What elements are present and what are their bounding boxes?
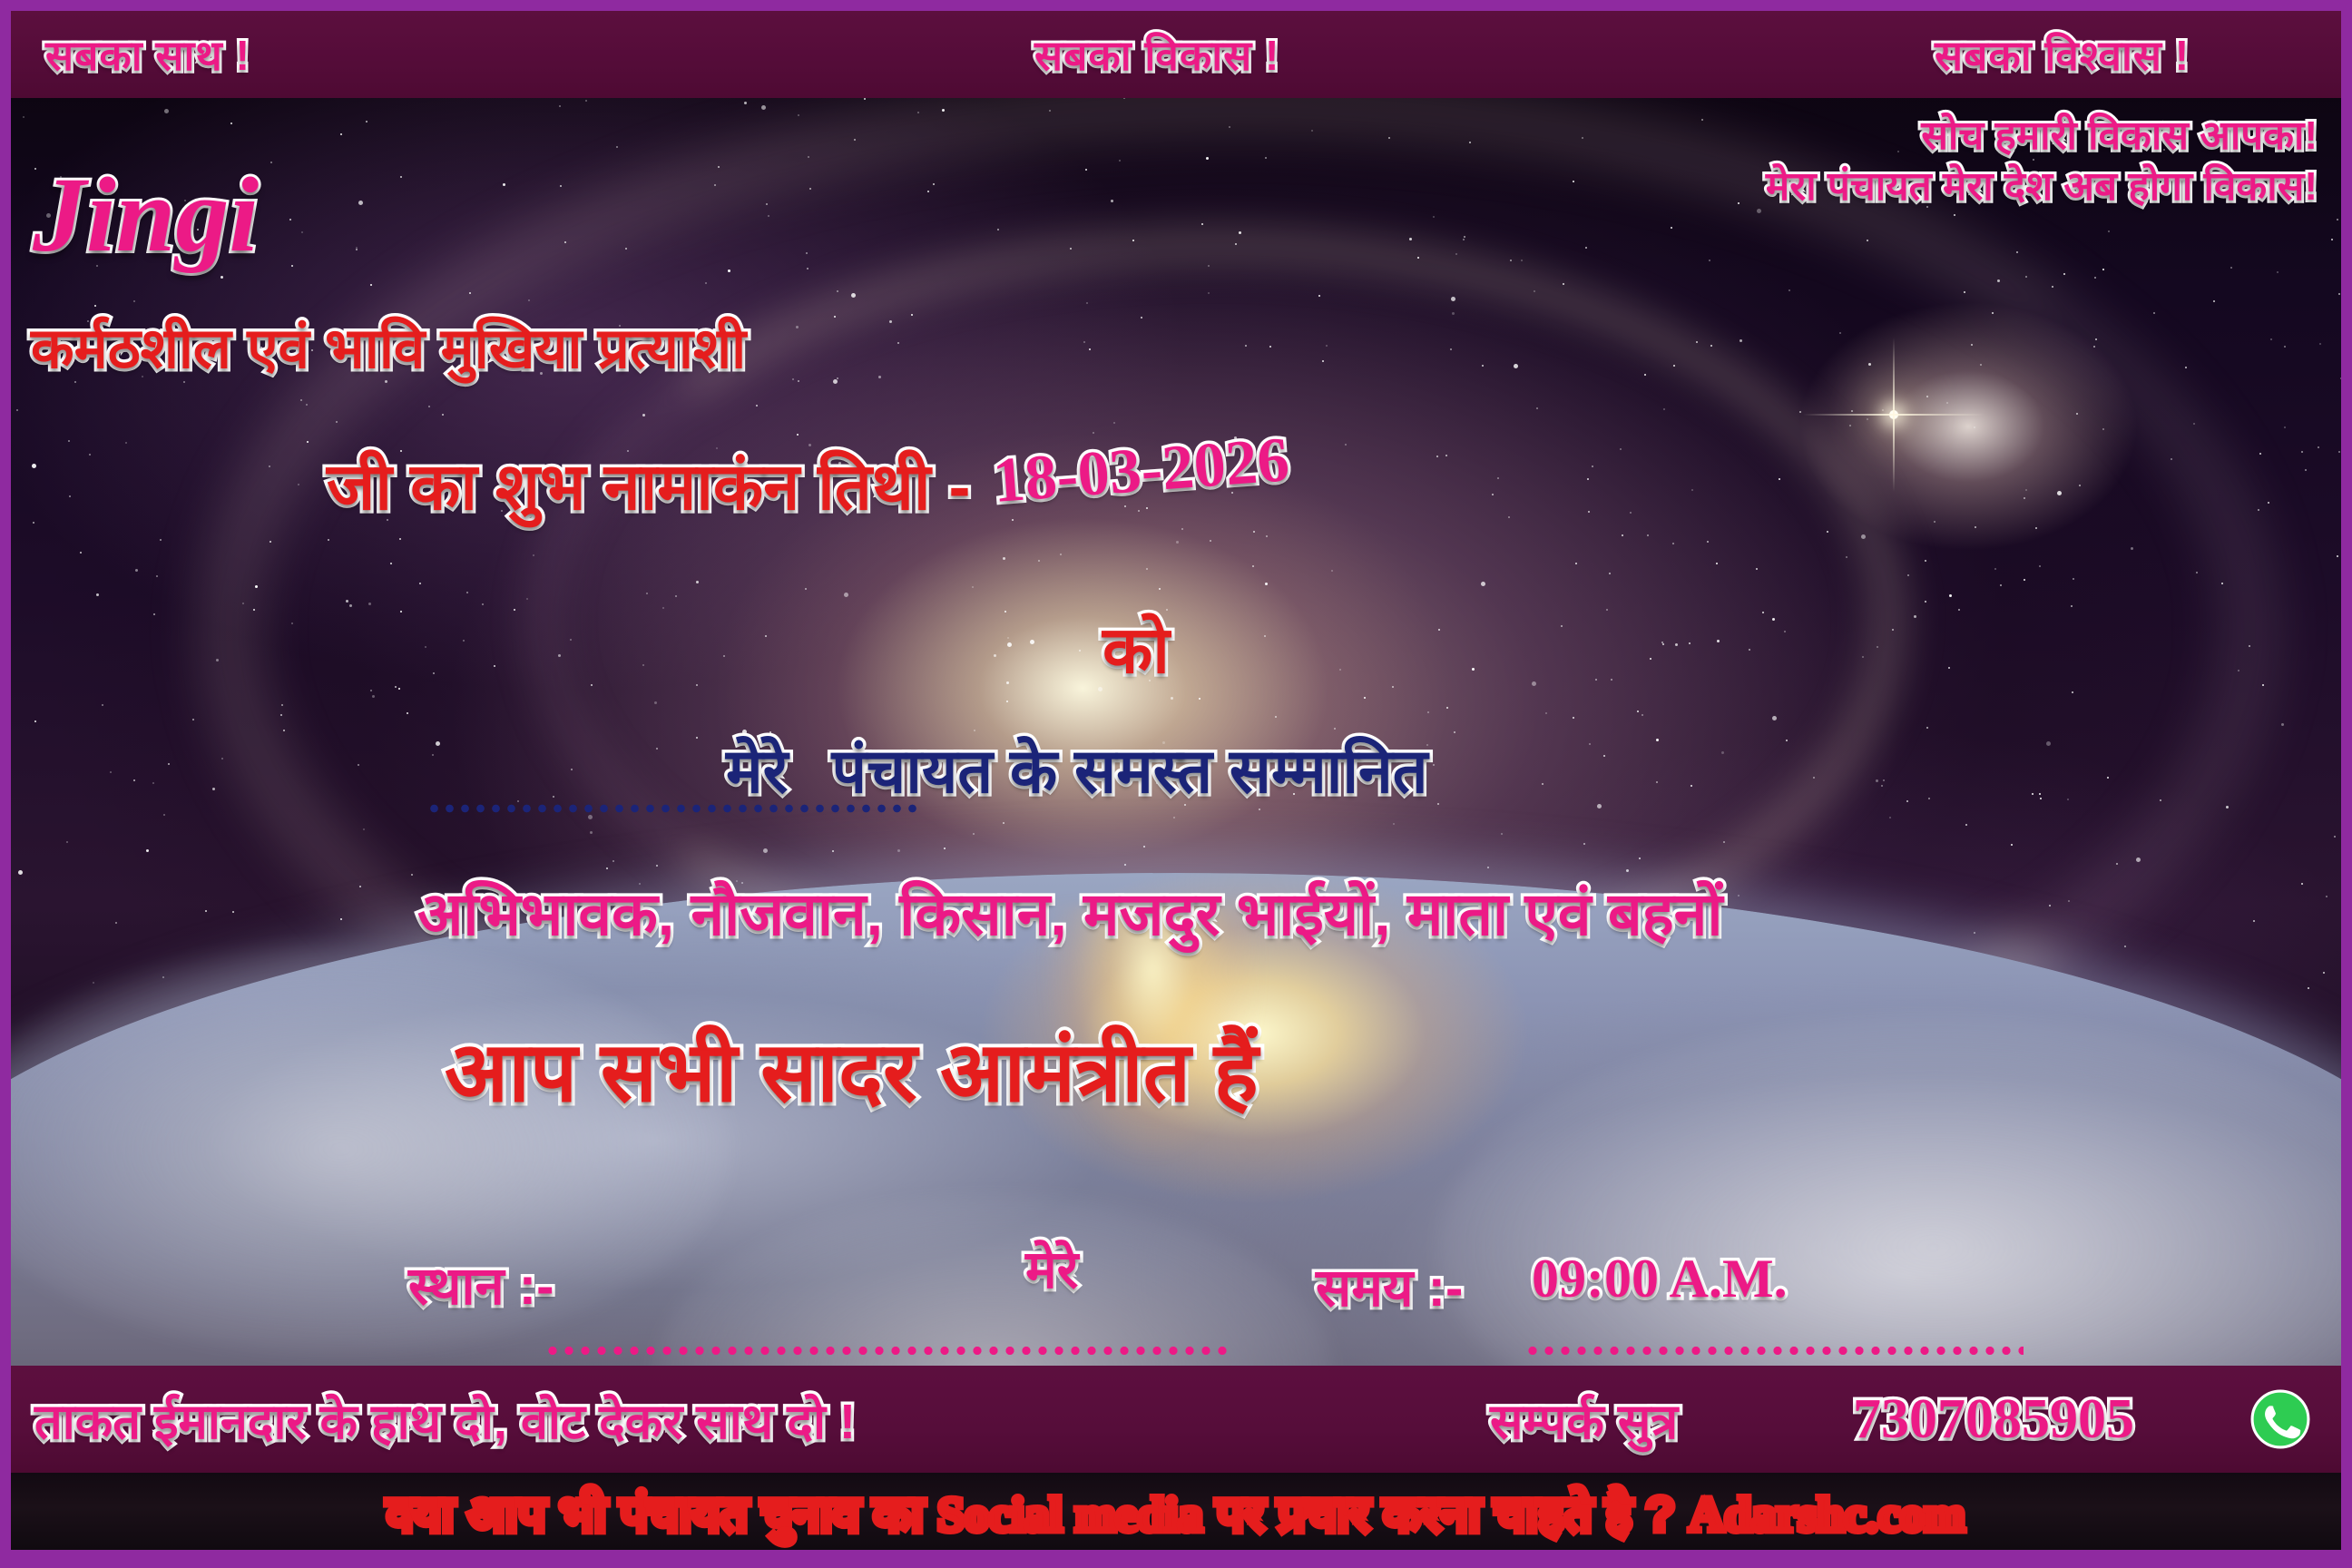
contact-label: सम्पर्क सुत्र bbox=[1490, 1386, 1678, 1453]
footer-social-media-label: Social media bbox=[937, 1487, 1203, 1542]
candidate-subtitle: कर्मठशील एवं भावि मुखिया प्रत्याशी bbox=[31, 309, 746, 385]
vote-slogan: ताकत ईमानदार के हाथ दो, वोट देकर साथ दो … bbox=[34, 1386, 856, 1453]
nomination-date-row: जी का शुभ नामाकंन तिथी - 18-03-2026 bbox=[327, 440, 1290, 529]
venue-label: स्थान :- bbox=[408, 1248, 554, 1319]
invitation-headline: आप सभी सादर आमंत्रीत हैं bbox=[445, 1012, 1259, 1125]
panchayat-mere: मेरे bbox=[726, 737, 788, 806]
tagline-block: सोच हमारी विकास आपका! मेरा पंचायत मेरा द… bbox=[1766, 111, 2318, 213]
nomination-date-label: जी का शुभ नामाकंन तिथी - bbox=[327, 440, 971, 529]
venue-value: मेरे bbox=[1025, 1231, 1078, 1303]
footer-text-part-1: क्या आप भी पंचायत चुनाव का bbox=[387, 1487, 937, 1542]
footer-text-part-2: पर प्रचार करना चाहते है ? bbox=[1203, 1487, 1690, 1542]
election-invitation-poster: सबका साथ ! सबका विकास ! सबका विश्वास ! स… bbox=[0, 0, 2352, 1568]
venue-blank-line bbox=[544, 1346, 1234, 1356]
tagline-line-1: सोच हमारी विकास आपका! bbox=[1766, 111, 2318, 162]
slogan-sabka-vikas: सबका विकास ! bbox=[1034, 26, 1279, 83]
contact-number[interactable]: 7307085905 bbox=[1853, 1387, 2134, 1452]
time-value: 09:00 A.M. bbox=[1532, 1248, 1788, 1310]
footer-promo-strip: क्या आप भी पंचायत चुनाव का Social media … bbox=[11, 1473, 2341, 1550]
bright-star-icon bbox=[1889, 410, 1898, 419]
audience-line-1: मेरेपंचायत के समस्त सम्मानित bbox=[726, 726, 1428, 810]
venue-time-row: स्थान :- मेरे समय :- 09:00 A.M. bbox=[0, 1248, 2352, 1357]
connector-ko: को bbox=[1102, 603, 1170, 692]
slogan-sabka-vishwas: सबका विश्वास ! bbox=[1935, 26, 2190, 83]
time-label: समय :- bbox=[1316, 1249, 1463, 1321]
panchayat-name-blank-line bbox=[426, 804, 916, 813]
tagline-line-2: मेरा पंचायत मेरा देश अब होगा विकास! bbox=[1766, 162, 2318, 212]
whatsapp-icon[interactable] bbox=[2250, 1389, 2310, 1449]
footer-website-link[interactable]: Adarshc.com bbox=[1689, 1487, 1965, 1542]
time-blank-line bbox=[1524, 1346, 2024, 1356]
audience-line-2: अभिभावक, नौजवान, किसान, मजदुर भाईयों, मा… bbox=[417, 871, 1722, 953]
panchayat-rest: पंचायत के समस्त सम्मानित bbox=[831, 737, 1427, 806]
candidate-name: Jingi bbox=[33, 162, 259, 269]
top-slogan-bar: सबका साथ ! सबका विकास ! सबका विश्वास ! bbox=[11, 11, 2341, 98]
bottom-contact-bar: ताकत ईमानदार के हाथ दो, वोट देकर साथ दो … bbox=[11, 1366, 2341, 1473]
slogan-sabka-saath: सबका साथ ! bbox=[45, 26, 250, 83]
footer-promo-text[interactable]: क्या आप भी पंचायत चुनाव का Social media … bbox=[387, 1478, 1965, 1545]
